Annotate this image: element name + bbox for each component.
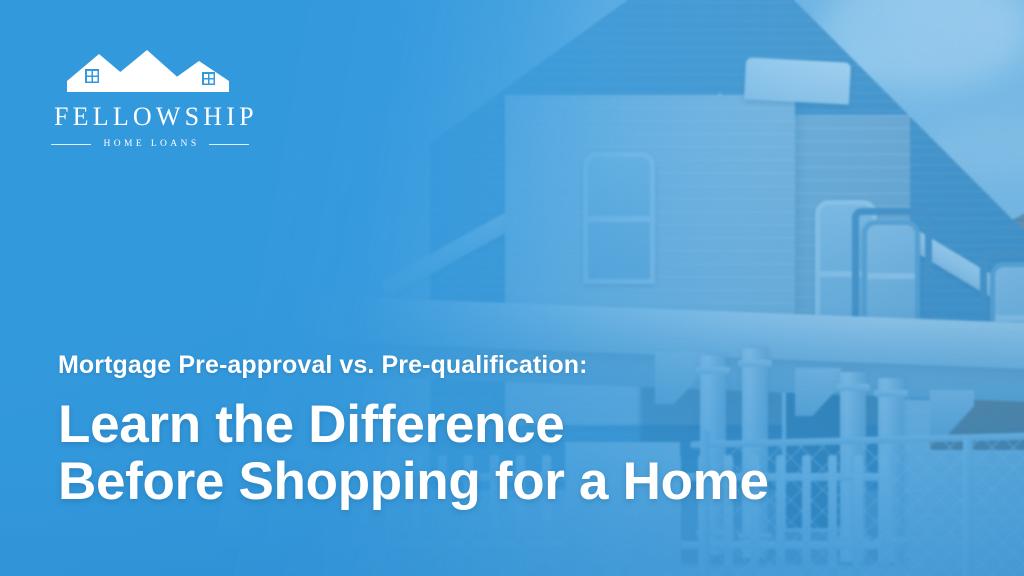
house-rooflines-icon <box>61 48 239 98</box>
brand-logo[interactable]: FELLOWSHIP HOME LOANS <box>50 48 250 149</box>
page-title: Learn the Difference Before Shopping for… <box>58 396 938 510</box>
divider-left <box>51 144 91 145</box>
eyebrow-text: Mortgage Pre-approval vs. Pre-qualificat… <box>58 350 938 380</box>
hero-content: FELLOWSHIP HOME LOANS Mortgage Pre-appro… <box>0 0 1024 576</box>
divider-right <box>209 144 249 145</box>
hero-banner: FELLOWSHIP HOME LOANS Mortgage Pre-appro… <box>0 0 1024 576</box>
headline-line-1: Learn the Difference <box>58 396 938 453</box>
brand-tagline: HOME LOANS <box>100 139 199 149</box>
brand-name: FELLOWSHIP <box>50 104 250 130</box>
headline-block: Mortgage Pre-approval vs. Pre-qualificat… <box>58 350 938 510</box>
brand-tagline-row: HOME LOANS <box>50 139 250 149</box>
headline-line-2: Before Shopping for a Home <box>58 453 938 510</box>
